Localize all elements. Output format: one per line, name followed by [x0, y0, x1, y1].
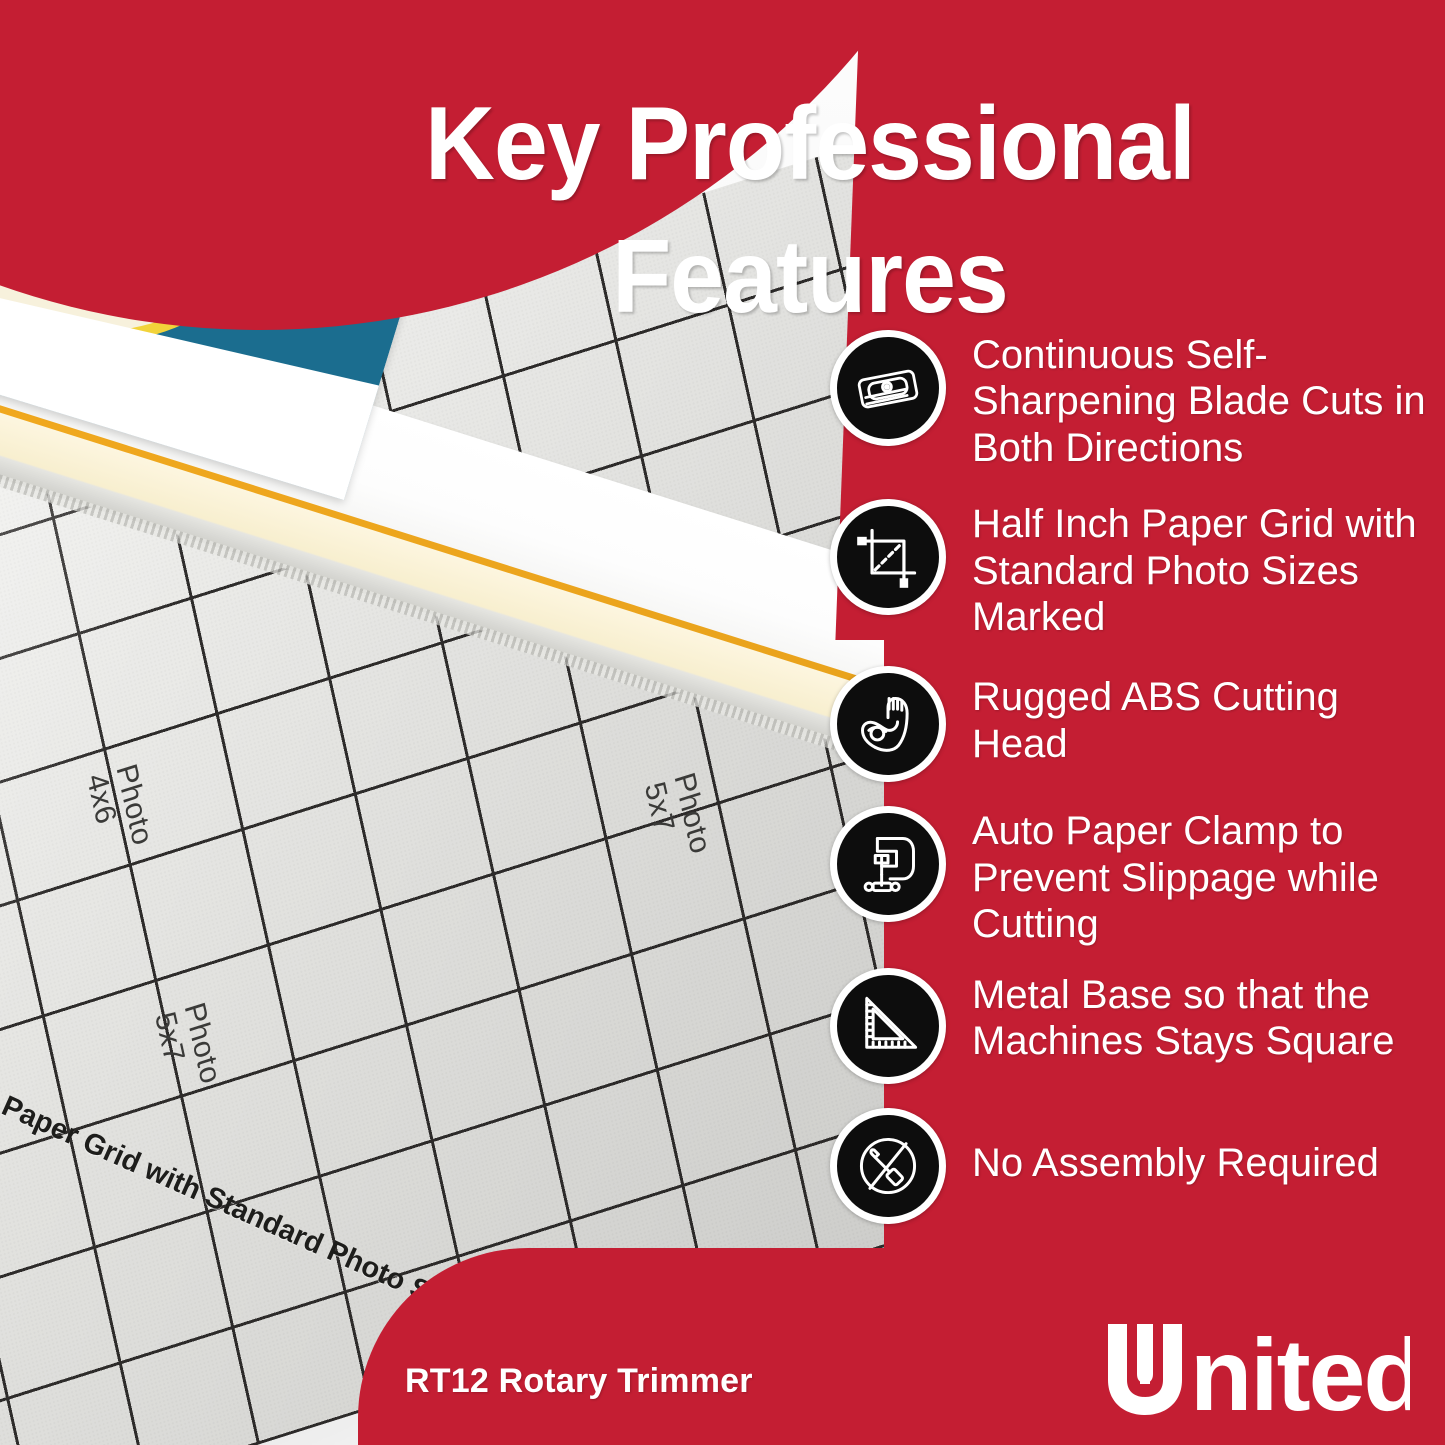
title-line-2: Features — [364, 211, 1257, 344]
flexed-bicep-icon — [830, 666, 946, 782]
feature-text: Continuous Self-Sharpening Blade Cuts in… — [946, 330, 1445, 471]
svg-text:nited: nited — [1190, 1318, 1410, 1420]
page-title: Key Professional Features — [364, 78, 1257, 344]
pencil-sharpener-blade-icon — [830, 330, 946, 446]
brand-logo: nited United — [1100, 1318, 1410, 1420]
set-square-ruler-icon — [830, 968, 946, 1084]
feature-list: Continuous Self-Sharpening Blade Cuts in… — [820, 330, 1445, 1246]
crop-grid-icon — [830, 499, 946, 615]
feature-text: Auto Paper Clamp to Prevent Slippage whi… — [946, 806, 1445, 947]
no-tools-prohibited-icon — [830, 1108, 946, 1224]
feature-text: Half Inch Paper Grid with Standard Photo… — [946, 499, 1445, 640]
feature-item: Auto Paper Clamp to Prevent Slippage whi… — [820, 806, 1445, 947]
feature-item: Metal Base so that the Machines Stays Sq… — [820, 968, 1445, 1084]
c-clamp-icon — [830, 806, 946, 922]
title-line-1: Key Professional — [425, 86, 1195, 202]
feature-item: Rugged ABS Cutting Head — [820, 666, 1445, 782]
feature-text: Rugged ABS Cutting Head — [946, 666, 1445, 767]
feature-item: No Assembly Required — [820, 1108, 1445, 1224]
feature-text: No Assembly Required — [946, 1108, 1445, 1186]
product-caption: RT12 Rotary Trimmer — [405, 1362, 753, 1401]
feature-item: Continuous Self-Sharpening Blade Cuts in… — [820, 330, 1445, 471]
infographic-canvas: Photo 4x6 Photo 5x7 Photo 4x6 Photo 5x7 … — [0, 0, 1445, 1445]
feature-item: Half Inch Paper Grid with Standard Photo… — [820, 499, 1445, 640]
united-logo-mark: nited — [1100, 1318, 1410, 1420]
feature-text: Metal Base so that the Machines Stays Sq… — [946, 968, 1445, 1065]
